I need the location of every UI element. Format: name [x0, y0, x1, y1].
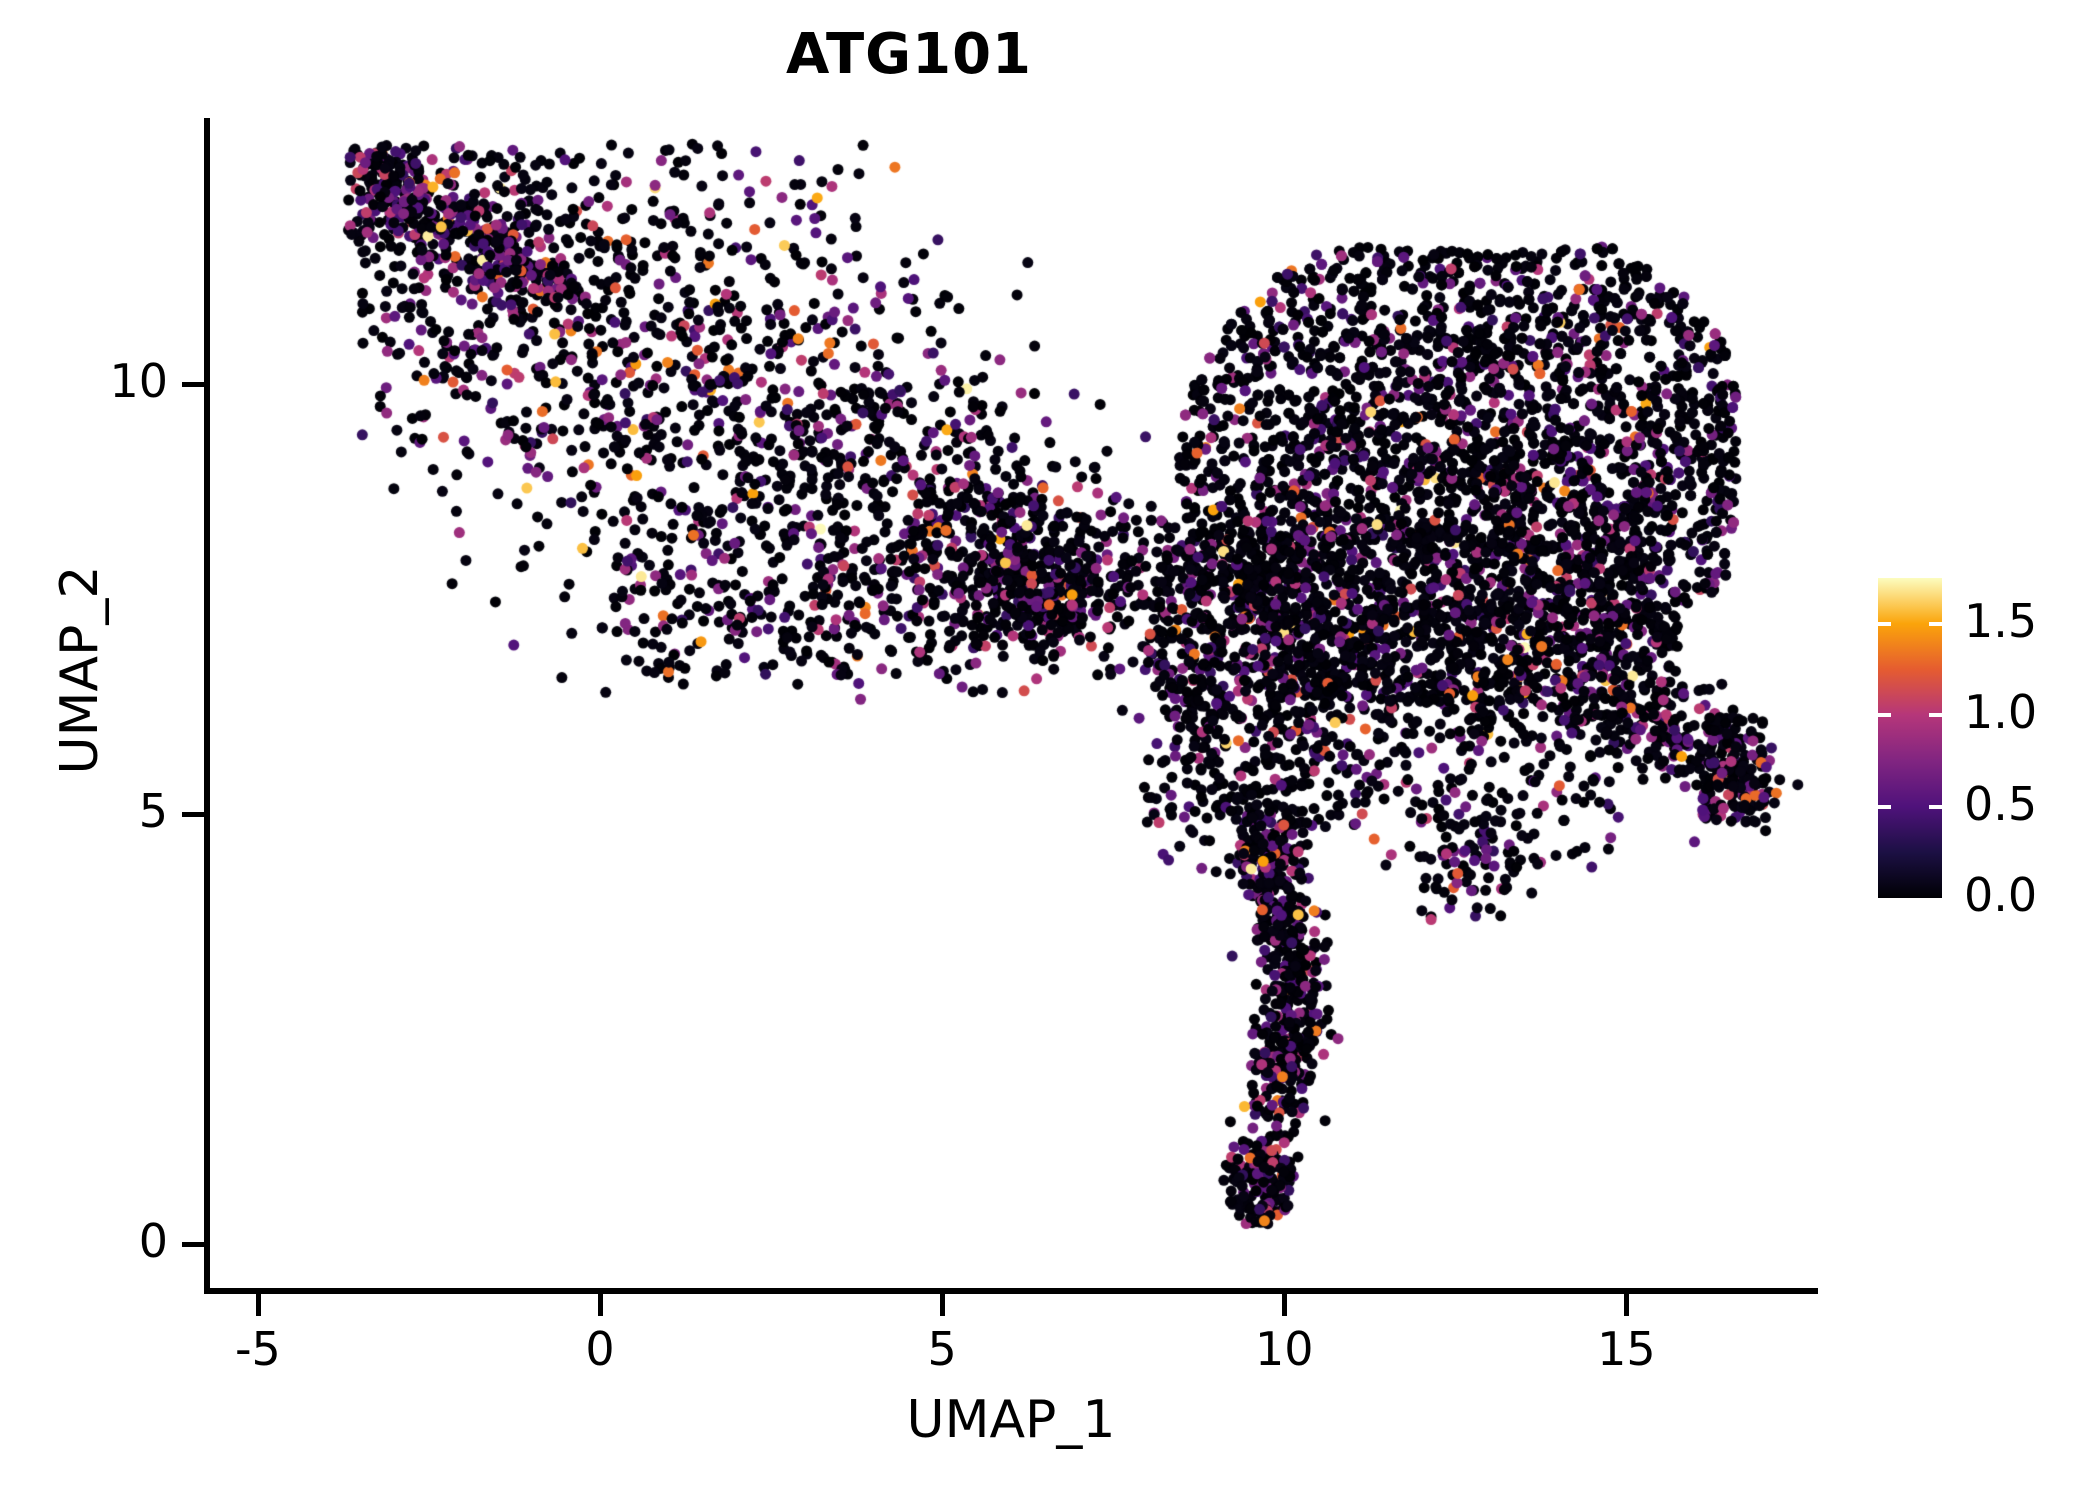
colorbar-tick-1.0	[1878, 713, 1891, 717]
x-axis-label: UMAP_1	[204, 1390, 1818, 1450]
colorbar-label-1.0: 1.0	[1964, 685, 2037, 739]
x-tick-label-10: 10	[1204, 1322, 1364, 1376]
x-tick--5	[256, 1294, 261, 1316]
colorbar-tick-right-0.5	[1929, 805, 1942, 809]
x-tick-0	[598, 1294, 603, 1316]
y-tick-label-0: 0	[0, 1214, 168, 1268]
y-tick-5	[182, 812, 204, 817]
colorbar-label-1.5: 1.5	[1964, 594, 2037, 648]
y-axis-line	[204, 118, 210, 1294]
y-tick-0	[182, 1242, 204, 1247]
colorbar-tick-0.5	[1878, 805, 1891, 809]
x-axis-line	[204, 1288, 1818, 1294]
x-tick-label-5: 5	[862, 1322, 1022, 1376]
colorbar-tick-right-1.5	[1929, 622, 1942, 626]
scatter-plot-area[interactable]	[210, 118, 1818, 1278]
colorbar-label-0.0: 0.0	[1964, 868, 2037, 922]
x-tick-10	[1282, 1294, 1287, 1316]
colorbar-gradient	[1878, 578, 1942, 898]
y-axis-label: UMAP_2	[50, 320, 110, 1020]
x-tick-label--5: -5	[178, 1322, 338, 1376]
y-tick-10	[182, 382, 204, 387]
x-tick-label-15: 15	[1546, 1322, 1706, 1376]
page-title: ATG101	[0, 22, 1818, 87]
colorbar-tick-right-1.0	[1929, 713, 1942, 717]
x-tick-5	[940, 1294, 945, 1316]
x-tick-label-0: 0	[520, 1322, 680, 1376]
figure-canvas: ATG101 -5051015 0510 UMAP_1 UMAP_2 1.51.…	[0, 0, 2100, 1500]
colorbar-label-0.5: 0.5	[1964, 777, 2037, 831]
scatter-points-layer	[210, 118, 1818, 1278]
x-tick-15	[1624, 1294, 1629, 1316]
colorbar[interactable]	[1878, 578, 1942, 898]
colorbar-tick-1.5	[1878, 622, 1891, 626]
